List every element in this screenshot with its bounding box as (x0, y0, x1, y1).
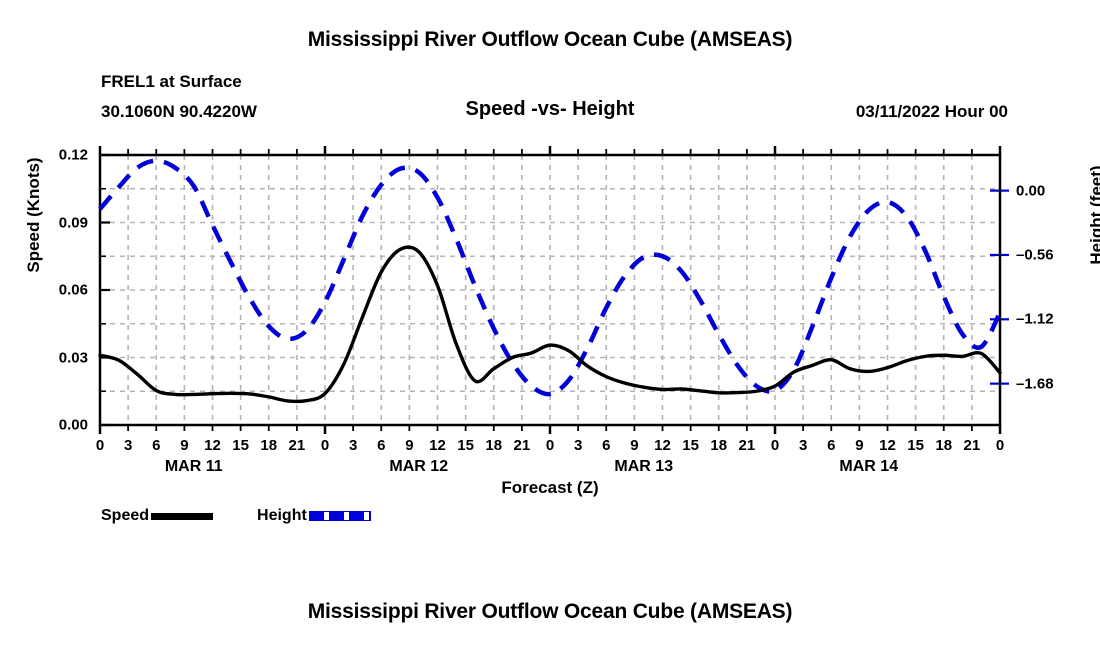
x-tick-label: 15 (457, 437, 474, 454)
chart-legend: Speed Height (101, 507, 371, 525)
x-tick-label: 12 (204, 437, 221, 454)
legend-entry-height: Height (257, 507, 371, 525)
x-tick-label: 6 (152, 437, 160, 454)
x-tick-label: 3 (124, 437, 132, 454)
x-tick-label: 12 (654, 437, 671, 454)
y-tick-label-right: –1.68 (1016, 375, 1054, 392)
x-tick-label: 18 (485, 437, 502, 454)
x-tick-label: 18 (710, 437, 727, 454)
y-tick-label-right: –0.56 (1016, 246, 1054, 263)
x-tick-label: 15 (232, 437, 249, 454)
x-day-label: MAR 11 (165, 458, 223, 476)
x-tick-label: 0 (546, 437, 554, 454)
x-tick-label: 21 (514, 437, 531, 454)
grid-lines (100, 155, 1000, 425)
x-tick-label: 21 (964, 437, 981, 454)
legend-label-speed: Speed (101, 507, 149, 525)
x-tick-label: 0 (771, 437, 779, 454)
legend-swatch-speed-icon (151, 513, 213, 520)
x-tick-label: 21 (739, 437, 756, 454)
x-tick-label: 3 (574, 437, 582, 454)
x-day-label: MAR 14 (839, 458, 898, 476)
legend-label-height: Height (257, 507, 307, 525)
x-tick-label: 0 (996, 437, 1004, 454)
x-tick-label: 6 (602, 437, 610, 454)
x-tick-label: 9 (630, 437, 638, 454)
y-tick-label-left: 0.06 (59, 282, 88, 299)
x-tick-label: 21 (289, 437, 306, 454)
x-tick-label: 3 (799, 437, 807, 454)
legend-swatch-height-icon (309, 511, 371, 521)
x-day-label: MAR 13 (614, 458, 673, 476)
x-axis-title: Forecast (Z) (0, 478, 1100, 498)
x-day-label: MAR 12 (389, 458, 448, 476)
x-tick-label: 9 (405, 437, 413, 454)
x-tick-label: 6 (827, 437, 835, 454)
x-tick-label: 12 (879, 437, 896, 454)
x-tick-label: 9 (180, 437, 188, 454)
y-tick-label-left: 0.12 (59, 147, 88, 164)
y-tick-label-left: 0.09 (59, 214, 88, 231)
legend-entry-speed: Speed (101, 507, 257, 525)
y-tick-label-left: 0.03 (59, 349, 88, 366)
x-tick-label: 18 (260, 437, 277, 454)
x-tick-label: 15 (907, 437, 924, 454)
y-tick-label-right: –1.12 (1016, 311, 1054, 328)
y-tick-label-right: 0.00 (1016, 182, 1045, 199)
x-tick-label: 3 (349, 437, 357, 454)
x-tick-label: 12 (429, 437, 446, 454)
x-tick-label: 0 (96, 437, 104, 454)
x-tick-label: 6 (377, 437, 385, 454)
chart-plot-area (0, 0, 1100, 470)
x-tick-label: 9 (855, 437, 863, 454)
x-tick-label: 18 (935, 437, 952, 454)
x-tick-label: 0 (321, 437, 329, 454)
x-tick-label: 15 (682, 437, 699, 454)
y-tick-label-left: 0.00 (59, 417, 88, 434)
bottom-title: Mississippi River Outflow Ocean Cube (AM… (0, 600, 1100, 624)
